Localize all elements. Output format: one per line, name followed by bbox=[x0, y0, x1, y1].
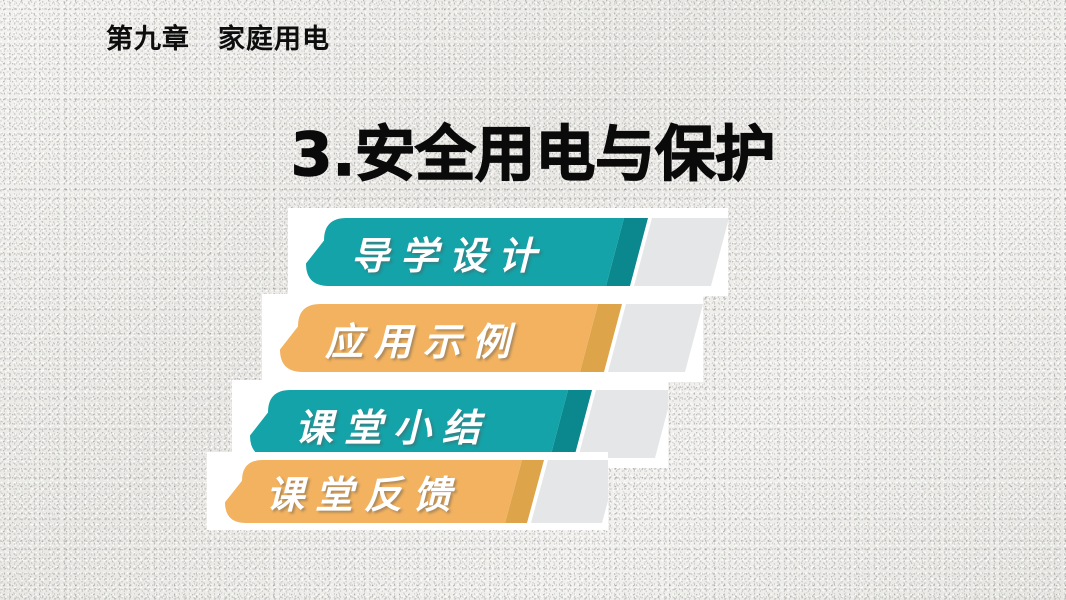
banner-shape-guided-learning-design bbox=[288, 208, 728, 296]
banner-graphic bbox=[207, 452, 608, 530]
chapter-heading: 第九章 家庭用电 bbox=[106, 17, 330, 56]
banner-color-body bbox=[280, 304, 598, 372]
banner-gray-tail bbox=[608, 304, 703, 372]
banner-class-feedback[interactable]: 课堂反馈 bbox=[207, 452, 608, 530]
banner-graphic bbox=[262, 294, 703, 382]
banner-color-body bbox=[250, 390, 568, 458]
banner-shape-class-feedback bbox=[207, 452, 608, 530]
banner-graphic bbox=[288, 208, 728, 296]
banner-color-body bbox=[306, 218, 624, 286]
banner-application-examples[interactable]: 应用示例 bbox=[262, 294, 703, 382]
banner-gray-tail bbox=[634, 218, 728, 286]
banner-shape-application-examples bbox=[262, 294, 703, 382]
slide-canvas: 第九章 家庭用电 3.安全用电与保护 导学设计应用示例课堂小结课堂反馈 bbox=[0, 0, 1066, 600]
banner-guided-learning-design[interactable]: 导学设计 bbox=[288, 208, 728, 296]
banner-gray-tail bbox=[531, 460, 608, 523]
banner-color-body bbox=[225, 460, 522, 523]
page-title: 3.安全用电与保护 bbox=[0, 106, 1066, 193]
banner-gray-tail bbox=[578, 390, 668, 458]
